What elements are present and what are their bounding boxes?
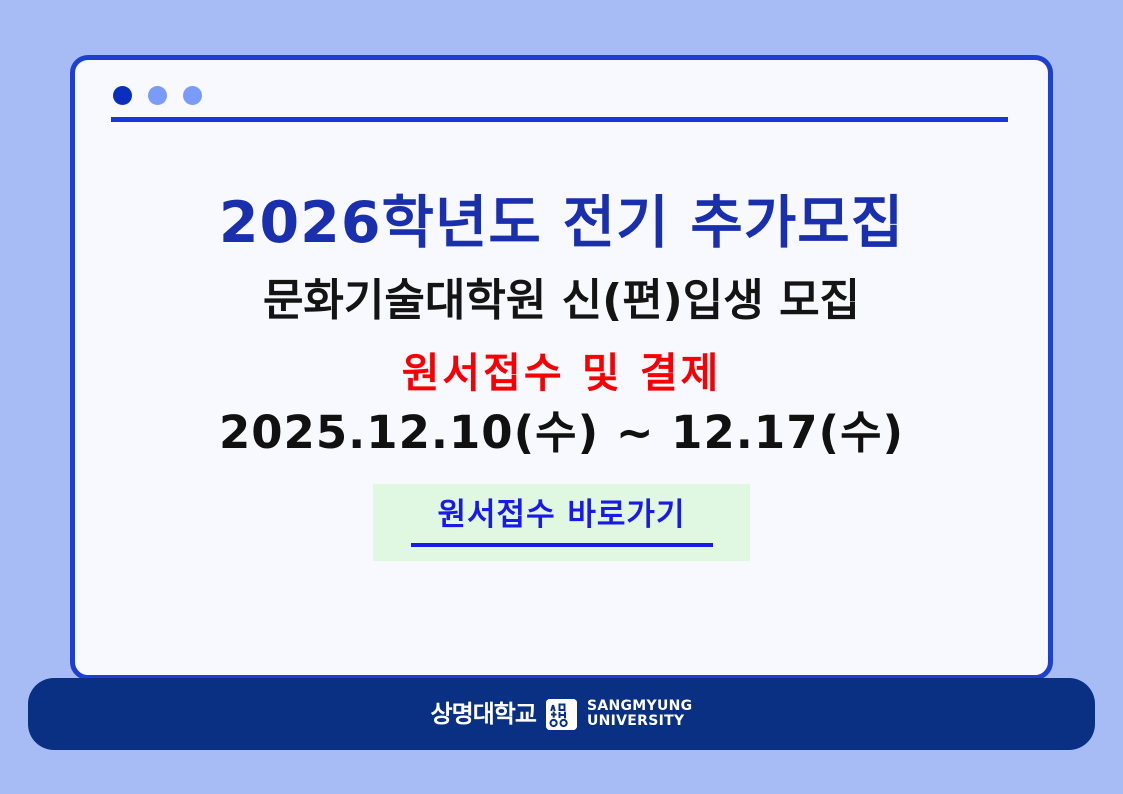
window-dot-minimize-icon[interactable] xyxy=(148,86,167,105)
titlebar-divider xyxy=(111,117,1008,122)
application-date-range: 2025.12.10(수) ~ 12.17(수) xyxy=(219,408,904,458)
window-dot-close-icon[interactable] xyxy=(113,86,132,105)
page-subtitle: 문화기술대학원 신(편)입생 모집 xyxy=(263,277,860,325)
window-controls xyxy=(113,86,202,105)
brand-english-line1: SANGMYUNG xyxy=(587,699,692,714)
university-brand: 상명대학교 SANGMYUNG UNIVERSITY xyxy=(431,699,693,730)
brand-english-line2: UNIVERSITY xyxy=(587,714,692,729)
window-dot-maximize-icon[interactable] xyxy=(183,86,202,105)
apply-now-label: 원서접수 바로가기 xyxy=(438,498,686,532)
browser-card: 2026학년도 전기 추가모집 문화기술대학원 신(편)입생 모집 원서접수 및… xyxy=(70,55,1053,680)
sangmyung-logo-icon xyxy=(546,699,577,730)
page-title: 2026학년도 전기 추가모집 xyxy=(219,192,904,255)
poster-content: 2026학년도 전기 추가모집 문화기술대학원 신(편)입생 모집 원서접수 및… xyxy=(75,130,1048,680)
browser-titlebar xyxy=(75,60,1048,130)
brand-korean-name: 상명대학교 xyxy=(431,702,536,726)
apply-now-button[interactable]: 원서접수 바로가기 xyxy=(373,484,750,561)
footer-bar: 상명대학교 SANGMYUNG UNIVERSITY xyxy=(28,678,1095,750)
brand-english-name: SANGMYUNG UNIVERSITY xyxy=(587,699,692,728)
apply-now-underline xyxy=(411,543,713,547)
application-notice-label: 원서접수 및 결제 xyxy=(402,351,722,396)
